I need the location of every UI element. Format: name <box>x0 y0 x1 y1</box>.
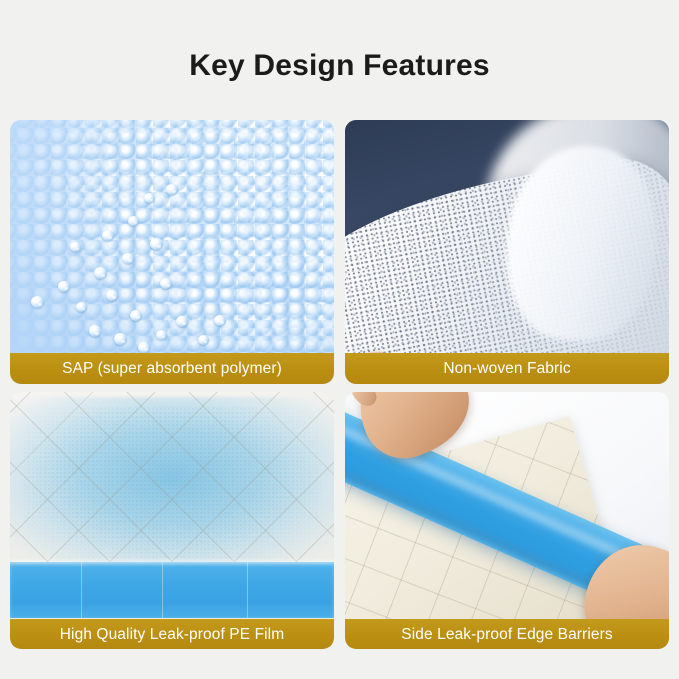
feature-card-edge-barriers[interactable]: Side Leak-proof Edge Barriers <box>345 392 669 649</box>
feature-card-sap[interactable]: SAP (super absorbent polymer) <box>10 120 334 384</box>
sap-bead <box>130 310 142 321</box>
sap-photo <box>10 120 334 384</box>
quilt-pattern <box>10 392 334 587</box>
sap-bead <box>176 316 188 327</box>
sap-bead <box>89 325 101 337</box>
sap-bead <box>198 335 209 345</box>
sap-bead <box>114 333 127 345</box>
sap-bead <box>214 315 226 326</box>
sap-bead <box>144 193 155 203</box>
sap-bead <box>102 230 114 241</box>
sap-bead <box>166 184 178 195</box>
sap-bead <box>76 302 87 312</box>
edge-barriers-photo <box>345 392 669 649</box>
sap-bead <box>58 281 70 292</box>
sap-bead <box>31 296 44 308</box>
non-woven-fabric-photo <box>345 120 669 384</box>
sap-bead <box>106 290 118 301</box>
film-crease <box>162 562 163 618</box>
caption-text-pe-film: High Quality Leak-proof PE Film <box>60 626 285 643</box>
feature-card-pe-film[interactable]: High Quality Leak-proof PE Film <box>10 392 334 649</box>
sap-bead <box>160 278 172 289</box>
caption-text-non-woven-fabric: Non-woven Fabric <box>443 360 570 377</box>
caption-bar-edge-barriers: Side Leak-proof Edge Barriers <box>345 619 669 649</box>
feature-grid: SAP (super absorbent polymer) Non-woven … <box>10 120 669 649</box>
caption-text-edge-barriers: Side Leak-proof Edge Barriers <box>401 626 612 643</box>
sap-bead <box>156 330 167 340</box>
sap-bead-cluster-icon <box>10 120 334 384</box>
sap-bead <box>94 267 107 279</box>
film-crease <box>247 562 248 618</box>
caption-bar-sap: SAP (super absorbent polymer) <box>10 353 334 384</box>
sap-bead <box>122 253 134 264</box>
sap-bead <box>138 342 150 353</box>
sap-bead <box>128 216 139 226</box>
caption-bar-pe-film: High Quality Leak-proof PE Film <box>10 619 334 649</box>
caption-text-sap: SAP (super absorbent polymer) <box>62 360 282 377</box>
pe-film-photo <box>10 392 334 649</box>
pe-film-strip <box>10 562 334 618</box>
page-title: Key Design Features <box>0 0 679 84</box>
film-crease <box>81 562 82 618</box>
sap-bead <box>70 242 81 252</box>
sap-bead <box>150 238 163 250</box>
feature-card-non-woven-fabric[interactable]: Non-woven Fabric <box>345 120 669 384</box>
caption-bar-non-woven-fabric: Non-woven Fabric <box>345 353 669 384</box>
